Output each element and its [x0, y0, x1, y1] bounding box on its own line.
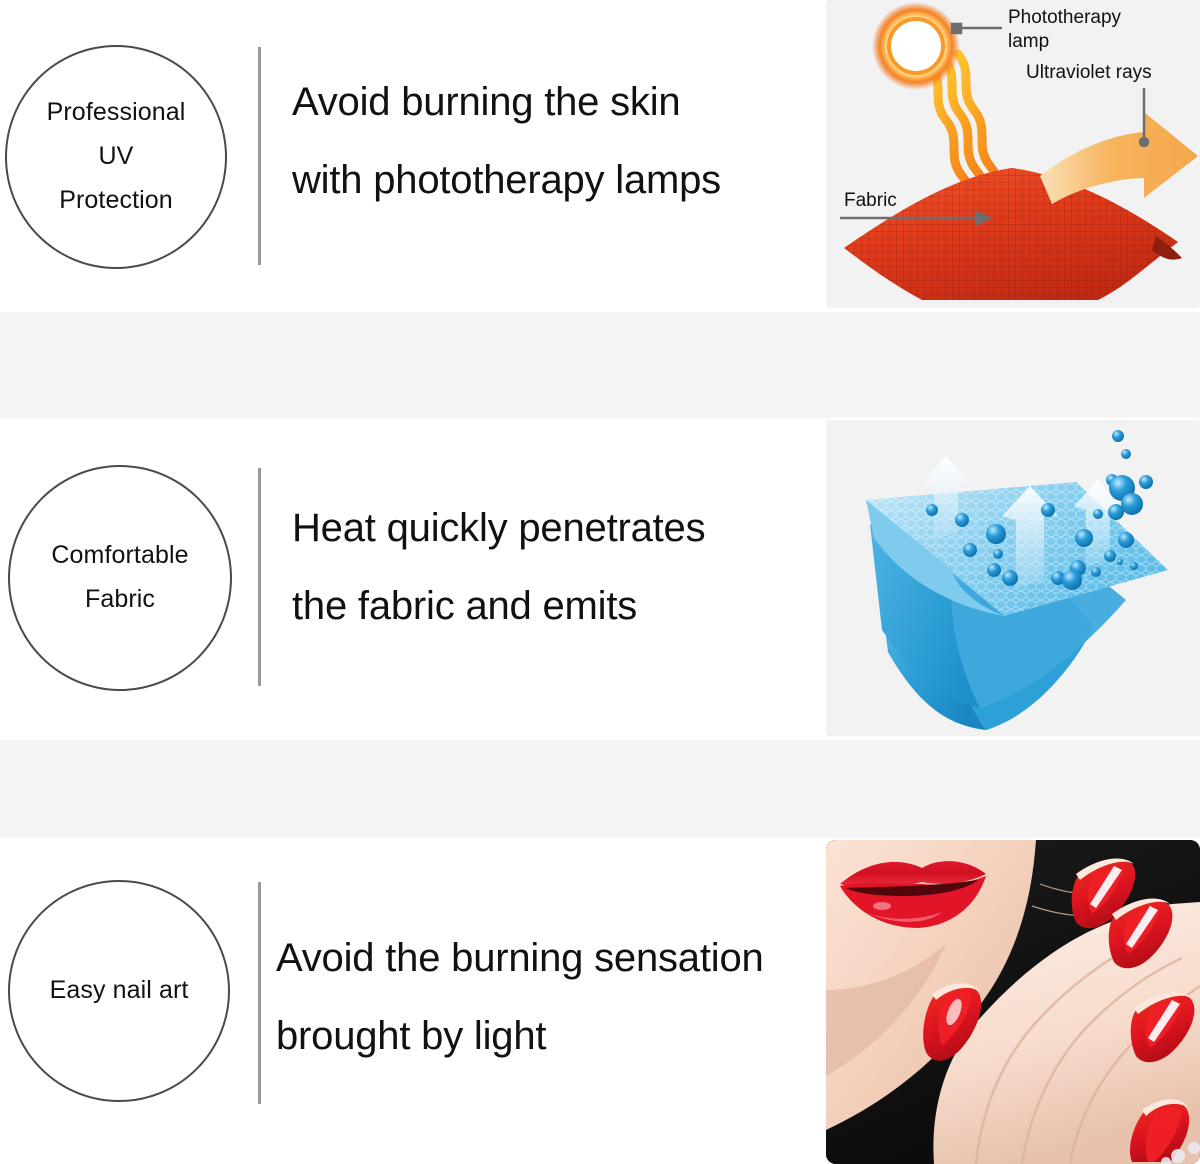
label-fabric: Fabric — [844, 190, 897, 211]
feature-row-easy-nail-art: Easy nail art Avoid the burning sensatio… — [0, 840, 1200, 1164]
vertical-divider — [258, 468, 261, 686]
illustration-phototherapy-lamp-uv-fabric: Phototherapy lamp Ultraviolet rays Fabri… — [826, 0, 1200, 308]
headline-line: brought by light — [276, 1016, 764, 1056]
headline-easy-nail-art: Avoid the burning sensation brought by l… — [276, 938, 764, 1056]
badge-line: UV — [99, 135, 134, 179]
headline-line: Avoid the burning sensation — [276, 938, 764, 978]
headline-line: Heat quickly penetrates — [292, 508, 705, 548]
badge-line: Easy nail art — [50, 969, 189, 1013]
badge-line: Fabric — [85, 578, 155, 622]
photo-red-manicure-lips — [826, 840, 1200, 1164]
illustration-breathable-fabric-layers — [826, 420, 1200, 736]
feature-row-uv-protection: Professional UV Protection Avoid burning… — [0, 0, 1200, 310]
badge-line: Protection — [59, 179, 173, 223]
vertical-divider — [258, 47, 261, 265]
row-separator-band — [0, 740, 1200, 838]
headline-line: the fabric and emits — [292, 586, 705, 626]
row-separator-band — [0, 312, 1200, 418]
label-phototherapy-lamp-line2: lamp — [1008, 31, 1049, 52]
feature-row-comfortable-fabric: Comfortable Fabric Heat quickly penetrat… — [0, 420, 1200, 738]
badge-line: Professional — [47, 91, 186, 135]
headline-line: Avoid burning the skin — [292, 82, 721, 122]
badge-circle-uv-protection: Professional UV Protection — [5, 45, 227, 269]
vertical-divider — [258, 882, 261, 1104]
badge-circle-comfortable-fabric: Comfortable Fabric — [8, 465, 232, 691]
badge-line: Comfortable — [51, 534, 188, 578]
label-ultraviolet-rays: Ultraviolet rays — [1026, 62, 1152, 83]
headline-line: with phototherapy lamps — [292, 160, 721, 200]
headline-comfortable-fabric: Heat quickly penetrates the fabric and e… — [292, 508, 705, 626]
label-phototherapy-lamp-line1: Phototherapy — [1008, 7, 1122, 28]
headline-uv-protection: Avoid burning the skin with phototherapy… — [292, 82, 721, 200]
badge-circle-easy-nail-art: Easy nail art — [8, 880, 230, 1102]
